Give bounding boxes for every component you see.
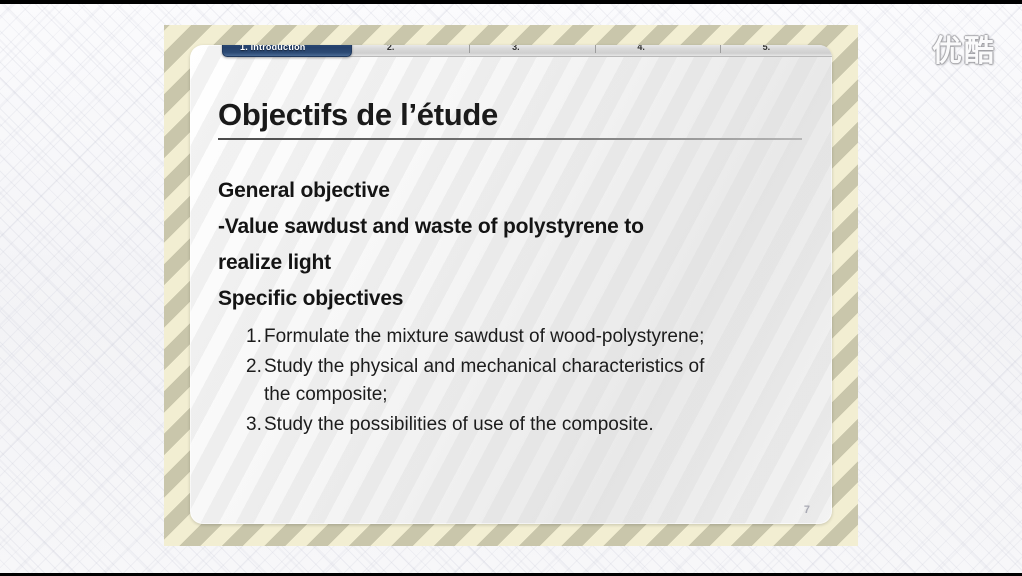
slide-striped-border: 1. Introduction 2. 3. 4. 5. [164, 25, 858, 546]
general-objective-line-1: -Value sawdust and waste of polystyrene … [218, 209, 810, 245]
slide-card: 1. Introduction 2. 3. 4. 5. [190, 45, 832, 524]
list-item: 2. Study the physical and mechanical cha… [218, 353, 810, 409]
nav-segments-container: 2. 3. 4. 5. [344, 45, 832, 57]
nav-segment-5[interactable]: 5. [720, 45, 832, 56]
nav-segment-2-label: 2. [387, 45, 395, 52]
nav-segment-4[interactable]: 4. [595, 45, 720, 56]
general-objective-line-2: realize light [218, 245, 810, 281]
youku-logo: 优酷 [932, 26, 996, 70]
slide-section-nav[interactable]: 1. Introduction 2. 3. 4. 5. [222, 45, 832, 57]
slide-page-number: 7 [804, 504, 810, 516]
list-item-text: Study the possibilities of use of the co… [264, 411, 714, 439]
list-item-text: Study the physical and mechanical charac… [264, 353, 714, 409]
slide-content-area: Objectifs de l’étude General objective -… [190, 45, 832, 524]
general-objective-heading: General objective [218, 173, 810, 209]
list-item: 3. Study the possibilities of use of the… [218, 411, 810, 439]
list-item-number: 2. [218, 353, 264, 409]
list-item-text: Formulate the mixture sawdust of wood-po… [264, 323, 714, 351]
slide-title: Objectifs de l’étude [218, 97, 498, 133]
specific-objectives-heading: Specific objectives [218, 281, 810, 317]
slide-text-block: General objective -Value sawdust and was… [218, 173, 810, 441]
nav-tab-introduction[interactable]: 1. Introduction [222, 45, 352, 57]
nav-segment-4-label: 4. [637, 45, 645, 52]
list-item: 1. Formulate the mixture sawdust of wood… [218, 323, 810, 351]
nav-segment-3[interactable]: 3. [469, 45, 594, 56]
list-item-number: 3. [218, 411, 264, 439]
nav-segment-2[interactable]: 2. [344, 45, 469, 56]
nav-tab-introduction-label: 1. Introduction [223, 45, 306, 52]
letterbox-top [0, 0, 1022, 4]
nav-segment-5-label: 5. [763, 45, 771, 52]
nav-segment-3-label: 3. [512, 45, 520, 52]
list-item-number: 1. [218, 323, 264, 351]
video-player-frame: 1. Introduction 2. 3. 4. 5. [0, 0, 1022, 576]
title-underline-rule [218, 138, 802, 140]
specific-objectives-list: 1. Formulate the mixture sawdust of wood… [218, 323, 810, 439]
